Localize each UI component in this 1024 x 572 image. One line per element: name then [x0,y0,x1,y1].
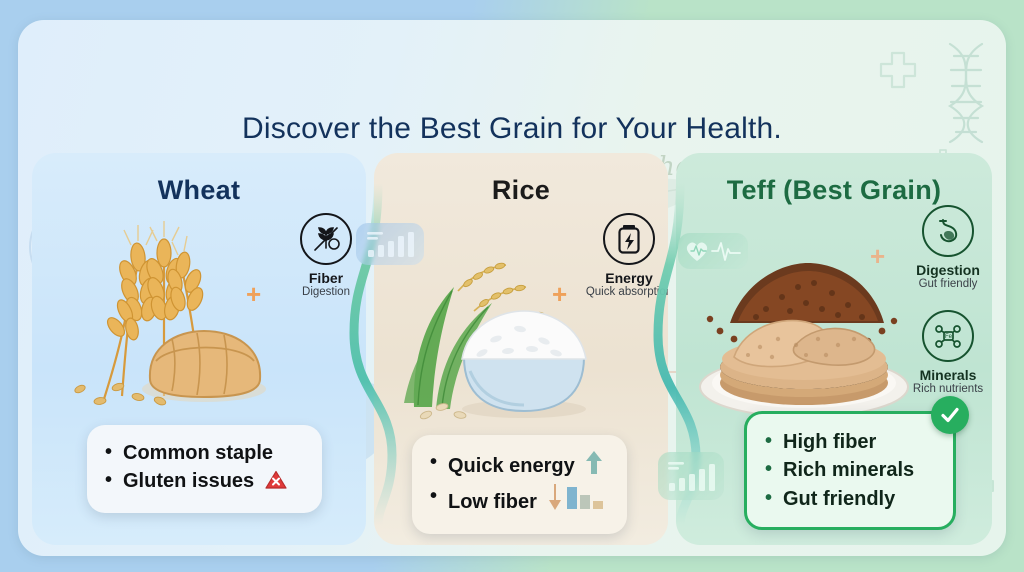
page-title: Discover the Best Grain for Your Health. [18,112,1006,146]
badge-title: Energy [581,270,668,286]
badge-subtitle: Quick absorption [581,286,668,299]
stomach-digestion-icon [922,205,974,257]
badge-title: Digestion [900,262,992,278]
rice-plant-and-bowl-illustration [396,231,606,426]
plus-accent-icon: + [870,243,885,269]
green-check-badge [931,396,969,434]
bullet-text: Low fiber [448,491,537,513]
bullet-text: Gut friendly [783,488,895,510]
medical-cross-icon [878,50,918,90]
badge-subtitle: Gut friendly [900,278,992,291]
bar-chart-chip-icon [658,452,724,500]
bar-chart-chip-icon [356,223,424,265]
arrow-up-icon [585,449,603,483]
badge-subtitle: Digestion [278,286,366,299]
column-wheat: Wheat [32,153,366,545]
bullet-card-rice: Quick energy Low fiber [412,435,627,534]
list-item: Rich minerals [765,456,933,484]
column-heading-teff: Teff (Best Grain) [676,175,992,206]
infographic-canvas: ? Hi good health D [0,0,1024,572]
list-item: Quick energy [430,449,607,483]
badge-fiber: Fiber Digestion [278,213,366,299]
badge-subtitle: Rich nutrients [900,383,992,396]
column-heading-wheat: Wheat [32,175,366,206]
list-item: Gluten issues [105,467,302,498]
heart-pulse-chip-icon [678,233,748,269]
bullet-text: Quick energy [448,455,575,477]
badge-title: Fiber [278,270,366,286]
infographic-card: ? Hi good health D [18,20,1006,556]
bullet-text: Common staple [123,442,273,464]
arrow-down-bars-icon [547,483,605,519]
bullet-text: Rich minerals [783,459,914,481]
badge-minerals: Fe Minerals Rich nutrients [900,310,992,396]
bullet-card-teff: High fiber Rich minerals Gut friendly [744,411,956,530]
badge-digestion: Digestion Gut friendly [900,205,992,291]
badge-energy: Energy Quick absorption [581,213,668,299]
bullet-text: Gluten issues [123,470,254,492]
plus-accent-icon: + [246,281,261,307]
column-rice: Rice [374,153,668,545]
plus-accent-icon: + [552,281,567,307]
list-item: Gut friendly [765,485,933,513]
column-heading-rice: Rice [374,175,668,206]
bullet-text: High fiber [783,431,876,453]
list-item: Low fiber [430,483,607,519]
list-item: Common staple [105,439,302,467]
gluten-free-wheat-icon [300,213,352,265]
list-item: High fiber [765,428,933,456]
warning-triangle-icon [265,470,287,498]
bullet-card-wheat: Common staple Gluten issues [87,425,322,513]
minerals-molecule-icon: Fe [922,310,974,362]
wheat-sheaf-and-bread-illustration [52,211,272,416]
badge-title: Minerals [900,367,992,383]
battery-energy-icon [603,213,655,265]
svg-text:Fe: Fe [945,334,953,340]
